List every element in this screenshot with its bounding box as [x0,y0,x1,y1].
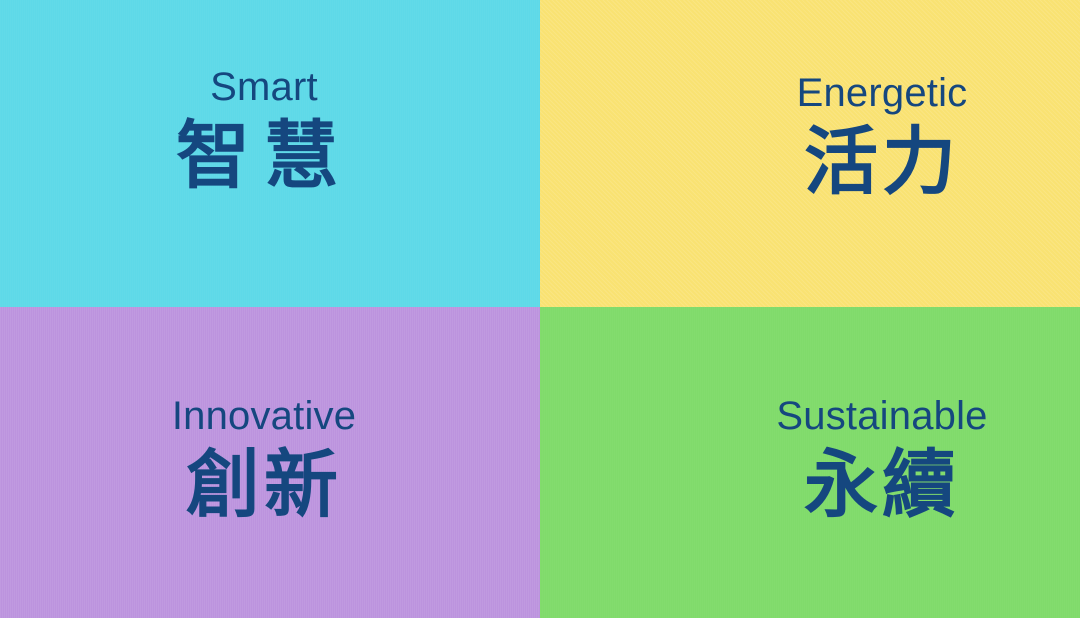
quadrant-energetic-chinese-label: 活力 [804,125,960,199]
quadrant-innovative-english-label: Innovative [172,396,356,436]
quadrant-sustainable-english-label: Sustainable [776,396,987,436]
quadrant-smart-english-label: Smart [210,67,318,107]
quadrant-sustainable-chinese-label: 永續 [804,448,960,522]
quadrant-sustainable-text: Sustainable 永續 [776,396,987,522]
brand-values-grid: Smart 智慧 Energetic 活力 Innovative 創新 Sust… [0,0,1080,618]
quadrant-innovative-chinese-label: 創新 [186,448,342,522]
quadrant-smart-text: Smart 智慧 [176,67,352,193]
quadrant-innovative-text: Innovative 創新 [172,396,356,522]
quadrant-energetic-english-label: Energetic [797,73,968,113]
quadrant-sustainable: Sustainable 永續 [540,307,1080,618]
quadrant-energetic-text: Energetic 活力 [797,73,968,199]
quadrant-innovative: Innovative 創新 [0,307,540,618]
quadrant-smart: Smart 智慧 [0,0,540,307]
quadrant-energetic: Energetic 活力 [540,0,1080,307]
quadrant-smart-chinese-label: 智慧 [176,119,352,193]
